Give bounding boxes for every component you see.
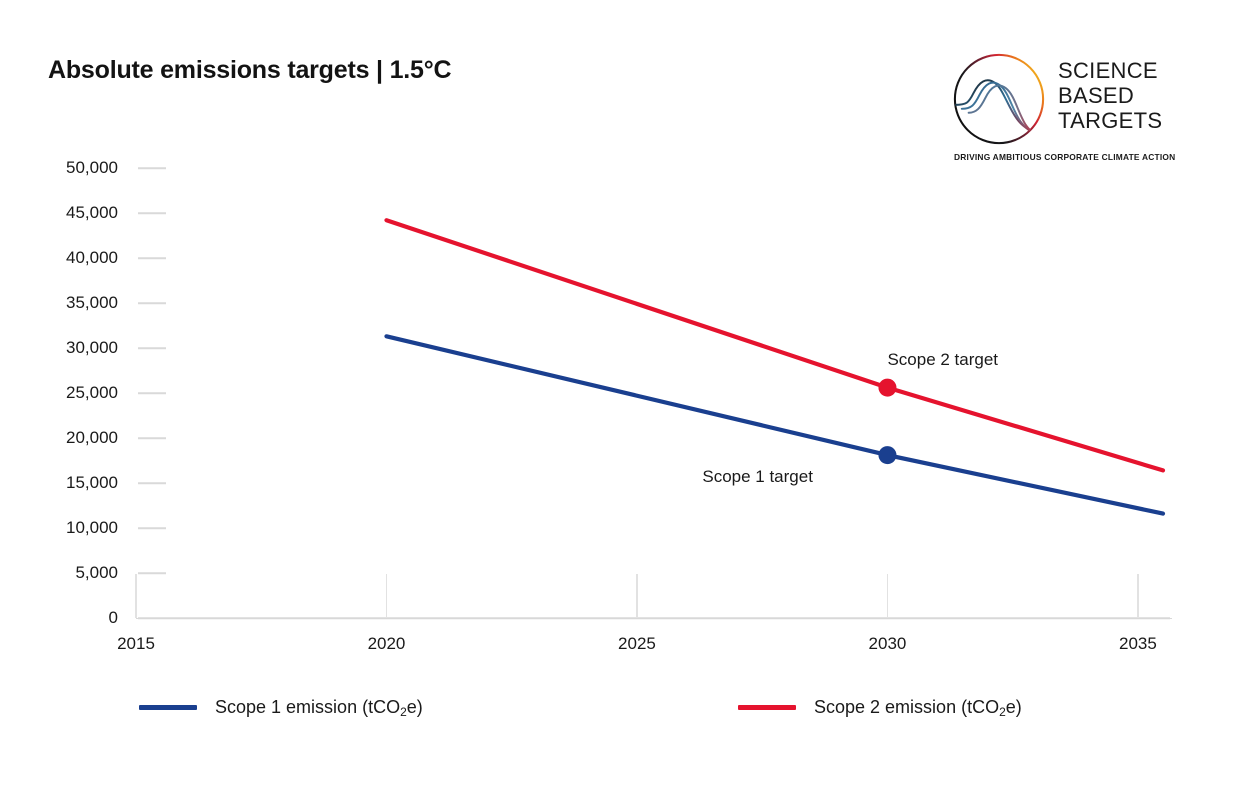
- scope-2-target-label: Scope 2 target: [887, 350, 998, 370]
- legend-color-swatch: [738, 705, 796, 710]
- scope-1-target-label: Scope 1 target: [702, 467, 813, 487]
- plot-area: 05,00010,00015,00020,00025,00030,00035,0…: [0, 0, 1240, 786]
- chart-figure: Absolute emissions targets | 1.5°C: [0, 0, 1240, 786]
- data-point-marker[interactable]: [878, 446, 896, 464]
- series-layer: [0, 0, 1240, 786]
- legend-label: Scope 2 emission (tCO2e): [814, 694, 1022, 722]
- legend: Scope 1 emission (tCO2e)Scope 2 emission…: [0, 690, 1240, 730]
- legend-color-swatch: [139, 705, 197, 710]
- legend-label: Scope 1 emission (tCO2e): [215, 694, 423, 722]
- series-line: [386, 336, 1163, 513]
- data-point-marker[interactable]: [878, 379, 896, 397]
- series-line: [386, 220, 1163, 470]
